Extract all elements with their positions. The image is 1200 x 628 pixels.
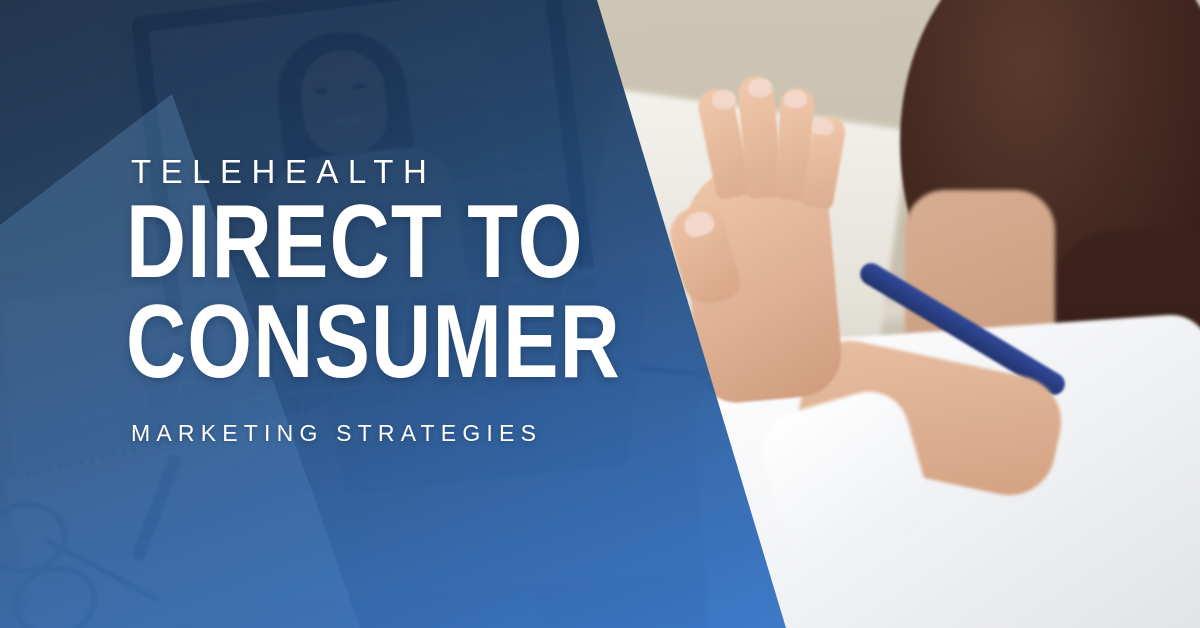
telehealth-marketing-banner: TELEHEALTH DIRECT TO CONSUMER MARKETING … (0, 0, 1200, 628)
headline-line-2: CONSUMER (126, 294, 574, 392)
subtitle-label: MARKETING STRATEGIES (131, 422, 686, 445)
headline-line-1: DIRECT TO (126, 184, 584, 300)
page-title: DIRECT TO CONSUMER (126, 194, 574, 392)
banner-text-block: TELEHEALTH DIRECT TO CONSUMER MARKETING … (126, 155, 686, 445)
